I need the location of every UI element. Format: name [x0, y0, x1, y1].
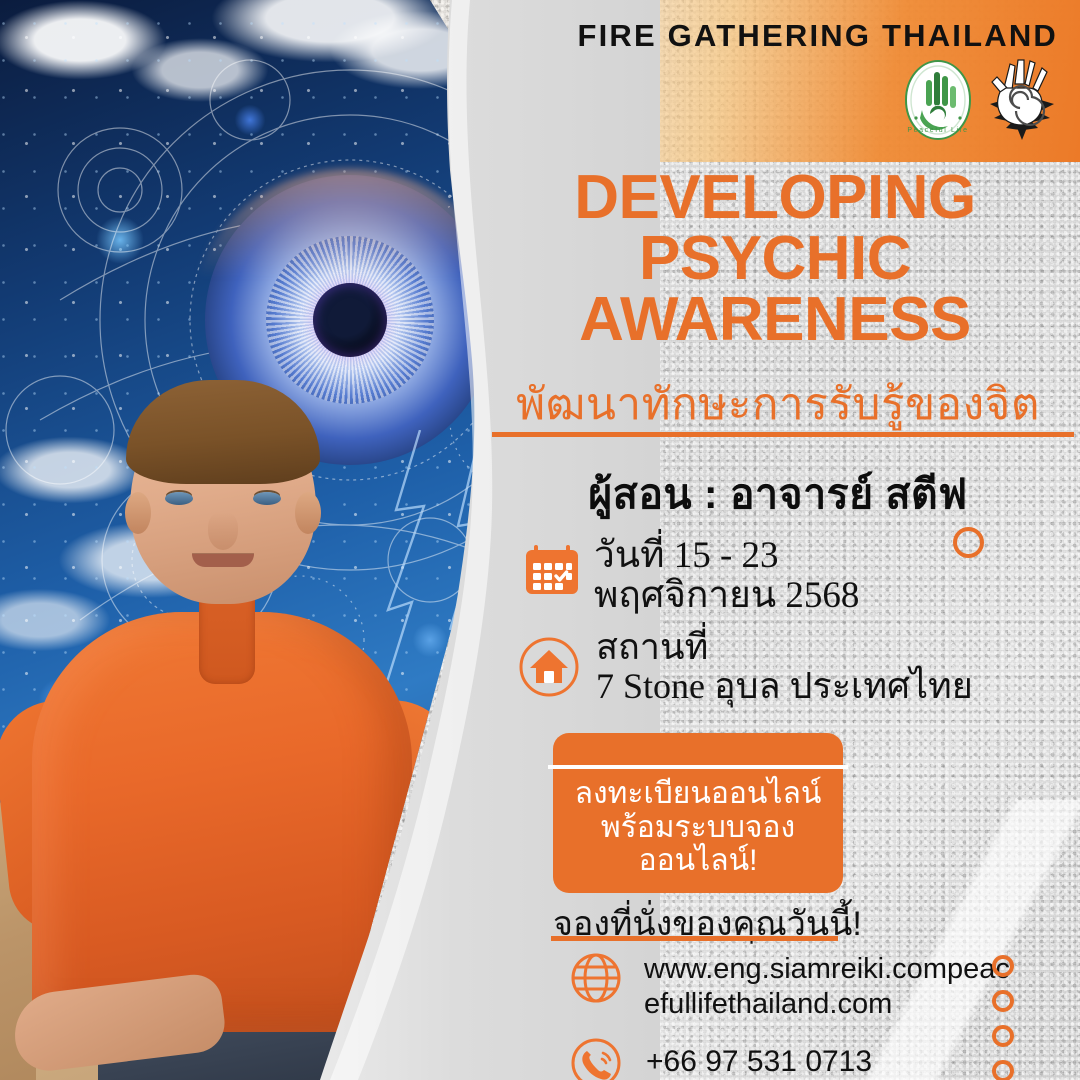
venue-text: สถานที่ 7 Stone อุบล ประเทศไทย	[596, 628, 973, 706]
website-line-2: efullifethailand.com	[644, 987, 1010, 1022]
phone-icon	[570, 1037, 622, 1080]
ear-right	[295, 492, 321, 534]
cta-divider-line	[548, 765, 848, 769]
logo-group: Peaceful Life	[902, 58, 1060, 142]
dot-ring-icon	[992, 1025, 1014, 1047]
brand-title: FIRE GATHERING THAILAND	[0, 18, 1058, 54]
phone-text: +66 97 531 0713	[646, 1044, 872, 1080]
calendar-icon	[523, 540, 581, 598]
page-title: DEVELOPING PSYCHIC AWARENESS	[480, 168, 1070, 350]
face-eye-right	[253, 492, 281, 505]
dot-ring-icon	[992, 955, 1014, 977]
phone-row[interactable]: +66 97 531 0713	[570, 1037, 1010, 1080]
nose	[208, 512, 238, 550]
thai-subtitle-underline	[492, 432, 1074, 437]
eye-lid	[191, 169, 509, 319]
instructor-line: ผู้สอน : อาจารย์ สตีฟ	[480, 462, 1076, 527]
website-text: www.eng.siamreiki.compeac efullifethaila…	[644, 952, 1010, 1023]
venue-value: 7 Stone อุบล ประเทศไทย	[596, 667, 973, 706]
cta-line-1: ลงทะเบียนออนไลน์	[553, 777, 843, 811]
website-line-1: www.eng.siamreiki.compeac	[644, 953, 1010, 985]
face-eye-left	[165, 492, 193, 505]
title-line-3: AWARENESS	[480, 290, 1070, 351]
book-now-underline	[551, 936, 838, 941]
decorative-dots-column	[992, 955, 1014, 1080]
venue-row: สถานที่ 7 Stone อุบล ประเทศไทย	[518, 636, 973, 706]
hair	[126, 380, 320, 484]
date-text: วันที่ 15 - 23 พฤศจิกายน 2568	[594, 536, 859, 616]
cta-line-2: พร้อมระบบจอง	[553, 811, 843, 845]
website-row[interactable]: www.eng.siamreiki.compeac efullifethaila…	[570, 952, 1010, 1023]
dot-ring-icon	[992, 990, 1014, 1012]
mouth	[192, 554, 254, 567]
contact-block: www.eng.siamreiki.compeac efullifethaila…	[570, 952, 1010, 1080]
hand-spiral-logo	[984, 58, 1060, 142]
venue-label: สถานที่	[596, 627, 708, 667]
svg-text:Peaceful Life: Peaceful Life	[907, 127, 968, 134]
book-now-text: จองที่นั่งของคุณวันนี้!	[553, 896, 862, 950]
register-online-button[interactable]: ลงทะเบียนออนไลน์ พร้อมระบบจอง ออนไลน์!	[553, 733, 843, 893]
title-line-1: DEVELOPING	[480, 168, 1070, 229]
date-line-2: พฤศจิกายน 2568	[594, 576, 859, 616]
globe-icon	[570, 952, 622, 1004]
date-line-1: วันที่ 15 - 23	[594, 535, 779, 576]
poster-root: FIRE GATHERING THAILAND Peaceful Life	[0, 0, 1080, 1080]
dot-ring-icon	[992, 1060, 1014, 1080]
cta-line-3: ออนไลน์!	[553, 844, 843, 878]
date-row: วันที่ 15 - 23 พฤศจิกายน 2568	[523, 540, 859, 616]
home-icon	[518, 636, 580, 698]
ear-left	[125, 492, 151, 534]
thai-subtitle: พัฒนาทักษะการรับรู้ของจิต	[482, 383, 1074, 427]
peaceful-life-logo: Peaceful Life	[902, 58, 974, 142]
decorative-ring-icon	[953, 527, 984, 558]
title-line-2: PSYCHIC	[480, 229, 1070, 290]
